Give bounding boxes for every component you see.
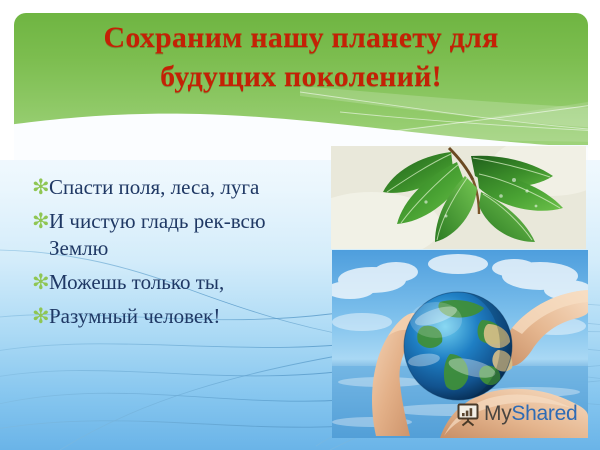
bullet-list: ✻ Спасти поля, леса, луга ✻ И чистую гла… [32, 174, 324, 337]
watermark-text-my: My [484, 402, 511, 425]
presentation-slide: Сохраним нашу планету для будущих поколе… [0, 0, 600, 450]
watermark-text: MyShared [484, 402, 577, 426]
list-item-label: Спасти поля, леса, луга [49, 174, 324, 201]
list-item-label: Разумный человек! [49, 303, 324, 330]
asterisk-bullet-icon: ✻ [32, 208, 49, 235]
asterisk-bullet-icon: ✻ [32, 269, 49, 296]
list-item-label: Можешь только ты, [49, 269, 324, 296]
list-item: ✻ И чистую гладь рек-всю Землю [32, 208, 324, 262]
list-item: ✻ Спасти поля, леса, луга [32, 174, 324, 201]
green-leaves-photo [331, 146, 586, 249]
list-item-label: И чистую гладь рек-всю Землю [49, 208, 324, 262]
asterisk-bullet-icon: ✻ [32, 303, 49, 330]
list-item: ✻ Можешь только ты, [32, 269, 324, 296]
title-line-1: Сохраним нашу планету для [14, 18, 588, 57]
list-item: ✻ Разумный человек! [32, 303, 324, 330]
asterisk-bullet-icon: ✻ [32, 174, 49, 201]
title-line-2: будущих поколений! [14, 57, 588, 96]
watermark-text-shared: Shared [511, 402, 577, 425]
slide-title: Сохраним нашу планету для будущих поколе… [14, 18, 588, 96]
myshared-watermark: MyShared [455, 401, 577, 427]
presentation-easel-icon [455, 401, 481, 427]
